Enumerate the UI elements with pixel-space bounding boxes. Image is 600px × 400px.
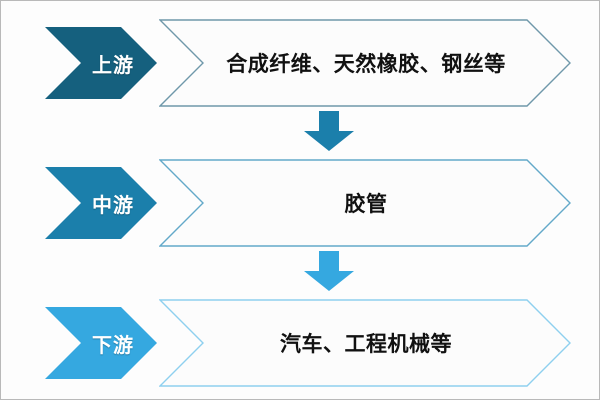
downstream-content-label: 汽车、工程机械等 — [191, 299, 541, 387]
upstream-content-label: 合成纤维、天然橡胶、钢丝等 — [191, 19, 541, 107]
midstream-content-label: 胶管 — [191, 159, 541, 247]
diagram-canvas: 合成纤维、天然橡胶、钢丝等 上游 胶管 中游 — [0, 0, 600, 400]
downstream-stage-label: 下游 — [45, 307, 157, 379]
down-arrow-icon — [304, 251, 354, 291]
midstream-stage-label: 中游 — [45, 167, 157, 239]
down-arrow-icon — [304, 111, 354, 151]
arrow-midstream-to-downstream — [304, 251, 354, 291]
upstream-stage-label: 上游 — [45, 27, 157, 99]
arrow-upstream-to-midstream — [304, 111, 354, 151]
chain-row-upstream: 合成纤维、天然橡胶、钢丝等 上游 — [1, 13, 600, 113]
chain-row-downstream: 汽车、工程机械等 下游 — [1, 293, 600, 393]
chain-row-midstream: 胶管 中游 — [1, 153, 600, 253]
